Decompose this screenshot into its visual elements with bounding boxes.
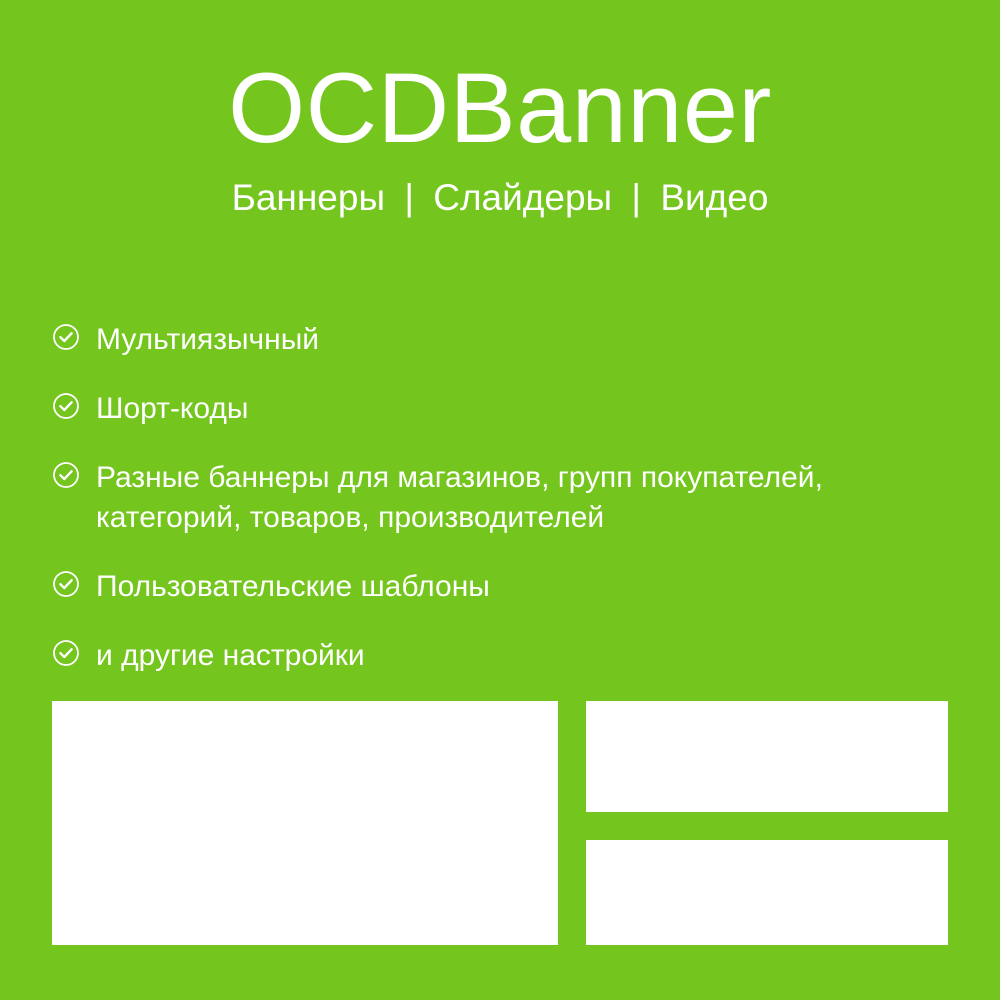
- subtitle-part-video: Видео: [660, 177, 768, 218]
- media-placeholder-top-right: [586, 701, 948, 812]
- subtitle-part-banners: Баннеры: [232, 177, 385, 218]
- feature-label: и другие настройки: [96, 636, 365, 676]
- check-circle-icon: [52, 323, 80, 351]
- check-circle-icon: [52, 570, 80, 598]
- promo-banner: OCDBanner Баннеры | Слайдеры | Видео Мул…: [0, 0, 1000, 1000]
- list-item: и другие настройки: [52, 636, 952, 676]
- subtitle-part-sliders: Слайдеры: [433, 177, 612, 218]
- page-title: OCDBanner: [0, 0, 1000, 157]
- feature-list: Мультиязычный Шорт-коды Разные баннеры д…: [52, 320, 952, 676]
- banner-subtitle: Баннеры | Слайдеры | Видео: [0, 157, 1000, 216]
- media-placeholder-main: [52, 701, 558, 945]
- list-item: Пользовательские шаблоны: [52, 567, 952, 607]
- feature-label: Мультиязычный: [96, 320, 319, 360]
- subtitle-separator-1: |: [395, 179, 423, 216]
- list-item: Разные баннеры для магазинов, групп поку…: [52, 458, 952, 538]
- subtitle-separator-2: |: [622, 179, 650, 216]
- banner-header: OCDBanner Баннеры | Слайдеры | Видео: [0, 0, 1000, 216]
- list-item: Шорт-коды: [52, 389, 952, 429]
- feature-label: Шорт-коды: [96, 389, 249, 429]
- list-item: Мультиязычный: [52, 320, 952, 360]
- feature-label: Пользовательские шаблоны: [96, 567, 490, 607]
- check-circle-icon: [52, 392, 80, 420]
- check-circle-icon: [52, 639, 80, 667]
- check-circle-icon: [52, 461, 80, 489]
- media-placeholder-bottom-right: [586, 840, 948, 945]
- feature-label: Разные баннеры для магазинов, групп поку…: [96, 458, 823, 538]
